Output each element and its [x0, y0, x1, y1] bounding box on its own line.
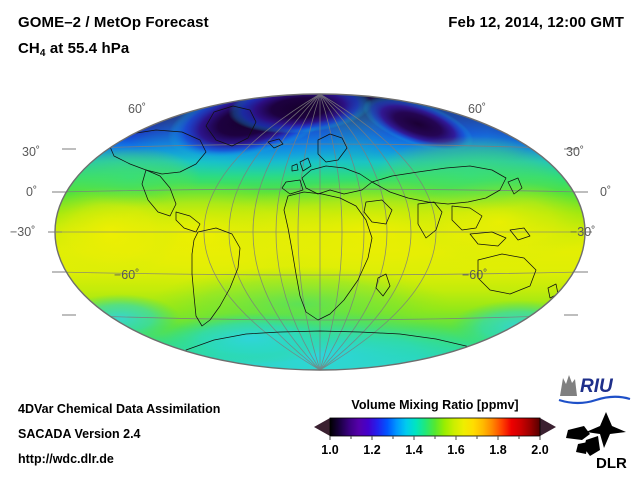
lat-label-right-30: 30˚ — [566, 145, 584, 159]
footer-method: 4DVar Chemical Data Assimilation — [18, 402, 220, 416]
lat-label-right-m30: −30˚ — [570, 225, 595, 239]
lat-label-left-m30: −30˚ — [10, 225, 35, 239]
figure-datetime: Feb 12, 2014, 12:00 GMT — [448, 14, 624, 31]
lat-label-right-m60: −60˚ — [462, 268, 487, 282]
colorbar-tick-label: 1.8 — [489, 443, 506, 457]
colorbar-cap-high — [540, 418, 556, 436]
colorbar-ticks — [330, 436, 540, 440]
colorbar — [312, 416, 558, 440]
world-map — [0, 82, 640, 382]
figure-subtitle: CH4 at 55.4 hPa — [18, 40, 129, 59]
colorbar-tick-label: 1.2 — [363, 443, 380, 457]
footer-version: SACADA Version 2.4 — [18, 427, 141, 441]
species-level: at 55.4 hPa — [46, 40, 130, 57]
colorbar-tick-label: 1.6 — [447, 443, 464, 457]
lat-label-left-30: 30˚ — [22, 145, 40, 159]
riu-wave-icon — [559, 397, 630, 403]
lat-label-left-m60: −60˚ — [114, 268, 139, 282]
colorbar-tick-label: 1.4 — [405, 443, 422, 457]
colorbar-svg — [312, 416, 558, 440]
riu-logo-text: RIU — [580, 376, 614, 397]
map-panel: 60˚ 30˚ 0˚ −30˚ −60˚ 60˚ 30˚ 0˚ −30˚ −60… — [0, 82, 640, 382]
lat-label-right-60: 60˚ — [468, 102, 486, 116]
lat-label-left-60: 60˚ — [128, 102, 146, 116]
colorbar-tick-label: 1.0 — [321, 443, 338, 457]
riu-tower-icon — [560, 375, 577, 396]
lat-label-right-0: 0˚ — [600, 185, 611, 199]
dlr-bird-icon — [566, 412, 626, 456]
colorbar-title: Volume Mixing Ratio [ppmv] — [320, 398, 550, 412]
colorbar-bar — [330, 418, 540, 436]
species-label: CH — [18, 40, 40, 57]
colorbar-tick-labels: 1.01.21.41.61.82.0 — [312, 443, 558, 461]
colorbar-tick-label: 2.0 — [531, 443, 548, 457]
lat-label-left-0: 0˚ — [26, 185, 37, 199]
figure-root: GOME–2 / MetOp Forecast CH4 at 55.4 hPa … — [0, 0, 640, 480]
colorbar-cap-low — [314, 418, 330, 436]
dlr-logo: DLR — [560, 410, 632, 472]
figure-title: GOME–2 / MetOp Forecast — [18, 14, 209, 31]
dlr-logo-text: DLR — [596, 455, 627, 472]
footer-url[interactable]: http://wdc.dlr.de — [18, 452, 114, 466]
riu-logo: RIU — [556, 372, 634, 406]
